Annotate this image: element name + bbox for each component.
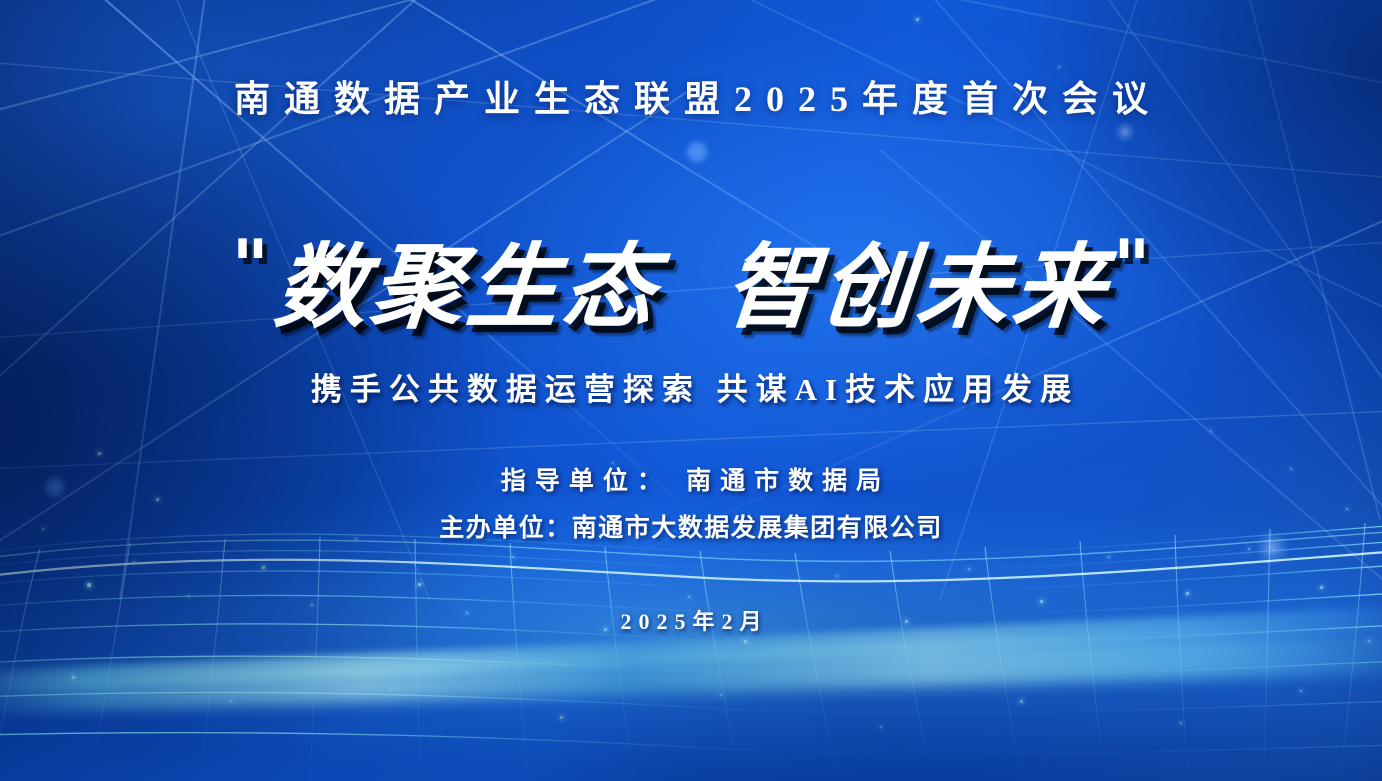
guidance-unit-line: 指导单位： 南通市数据局	[439, 461, 943, 497]
main-title-phrase-1: 数聚生态	[271, 242, 663, 334]
banner-content: 南通数据产业生态联盟2025年度首次会议 " 数聚生态 智创未来 " 携手公共数…	[0, 0, 1382, 781]
main-title: " 数聚生态 智创未来 "	[231, 242, 1150, 334]
main-title-phrase-2: 智创未来	[721, 242, 1113, 334]
organizer-block: 指导单位： 南通市数据局 主办单位：南通市大数据发展集团有限公司	[439, 461, 943, 544]
close-quote-mark: "	[1113, 230, 1151, 302]
host-unit-line: 主办单位：南通市大数据发展集团有限公司	[439, 508, 943, 544]
event-date: 2025年2月	[613, 604, 768, 636]
header-title: 南通数据产业生态联盟2025年度首次会议	[220, 70, 1162, 122]
open-quote-mark: "	[231, 230, 269, 302]
conference-banner: 南通数据产业生态联盟2025年度首次会议 " 数聚生态 智创未来 " 携手公共数…	[0, 0, 1382, 781]
sub-title: 携手公共数据运营探索 共谋AI技术应用发展	[303, 364, 1079, 409]
